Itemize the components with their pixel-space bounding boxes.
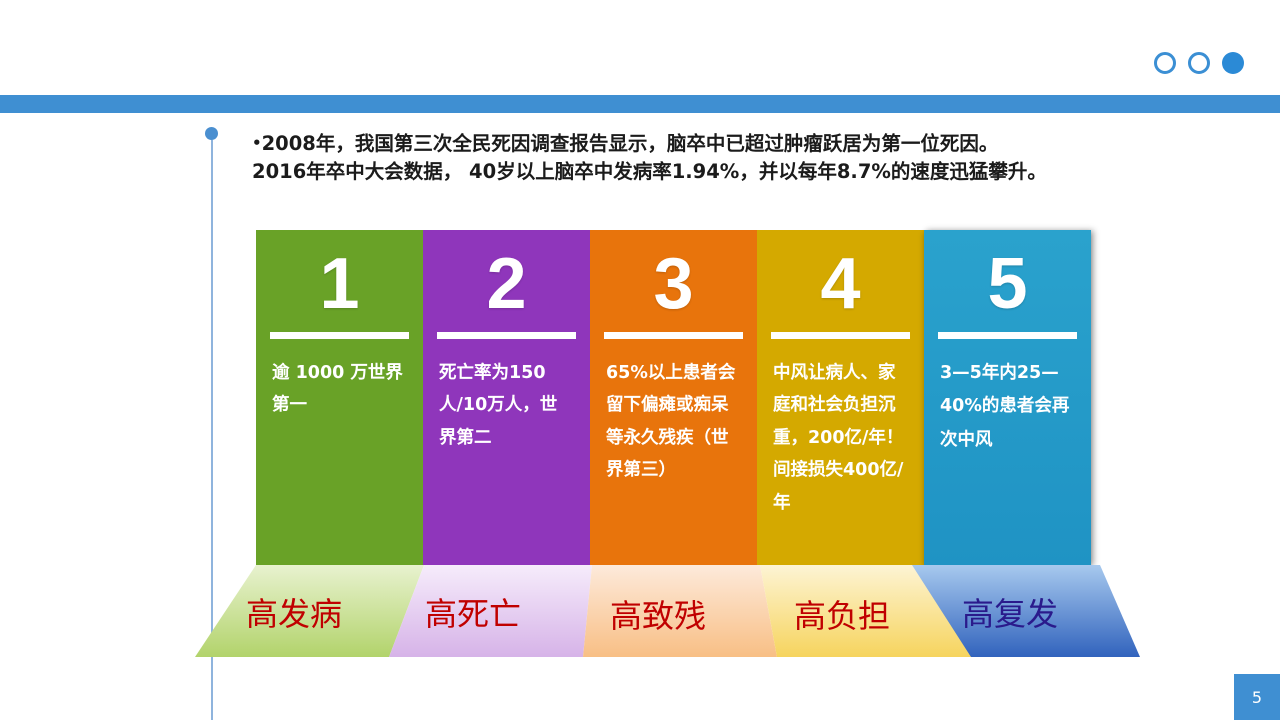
base-label-4: 高负担 <box>794 591 890 637</box>
column-3-number: 3 <box>590 230 757 324</box>
intro-line-1: 2008年，我国第三次全民死因调查报告显示，脑卒中已超过肿瘤跃居为第一位死因。 <box>262 132 999 155</box>
column-5-divider <box>938 332 1077 339</box>
column-1-text: 逾 1000 万世界第一 <box>256 339 423 436</box>
paragraph-bullet-icon: • <box>252 134 262 152</box>
column-5-number: 5 <box>924 230 1091 324</box>
intro-line-2: 2016年卒中大会数据， 40岁以上脑卒中发病率1.94%，并以每年8.7%的速… <box>252 160 1047 183</box>
base-label-3: 高致残 <box>610 591 706 637</box>
column-3-divider <box>604 332 743 339</box>
column-2-text: 死亡率为150人/10万人，世界第二 <box>423 339 590 468</box>
page-number: 5 <box>1234 674 1280 720</box>
column-1-divider <box>270 332 409 339</box>
column-3-text: 65%以上患者会留下偏瘫或痴呆等永久残疾（世界第三） <box>590 339 757 501</box>
intro-paragraph: •2008年，我国第三次全民死因调查报告显示，脑卒中已超过肿瘤跃居为第一位死因。… <box>252 130 1212 187</box>
column-5[interactable]: 5 3—5年内25—40%的患者会再次中风 <box>924 230 1091 565</box>
column-3[interactable]: 3 65%以上患者会留下偏瘫或痴呆等永久残疾（世界第三） <box>590 230 757 565</box>
column-group: 1 逾 1000 万世界第一 2 死亡率为150人/10万人，世界第二 3 65… <box>256 230 1091 565</box>
column-4-number: 4 <box>757 230 924 324</box>
base-label-2: 高死亡 <box>425 589 521 635</box>
header-accent-bar <box>0 95 1280 113</box>
base-label-1: 高发病 <box>246 589 342 635</box>
column-1-number: 1 <box>256 230 423 324</box>
column-4-divider <box>771 332 910 339</box>
column-2-divider <box>437 332 576 339</box>
column-4-text: 中风让病人、家庭和社会负担沉重，200亿/年！间接损失400亿/年 <box>757 339 924 533</box>
circle-outline-icon-1 <box>1154 52 1176 74</box>
base-label-5: 高复发 <box>962 589 1058 635</box>
column-2-number: 2 <box>423 230 590 324</box>
base-band-labels: 高发病 高死亡 高致残 高负担 高复发 <box>190 565 1140 655</box>
column-5-text: 3—5年内25—40%的患者会再次中风 <box>924 339 1091 471</box>
column-4[interactable]: 4 中风让病人、家庭和社会负担沉重，200亿/年！间接损失400亿/年 <box>757 230 924 565</box>
column-1[interactable]: 1 逾 1000 万世界第一 <box>256 230 423 565</box>
circle-filled-icon <box>1222 52 1244 74</box>
header-dots <box>1154 52 1244 74</box>
column-2[interactable]: 2 死亡率为150人/10万人，世界第二 <box>423 230 590 565</box>
circle-outline-icon-2 <box>1188 52 1210 74</box>
bullet-dot-marker <box>205 127 218 140</box>
